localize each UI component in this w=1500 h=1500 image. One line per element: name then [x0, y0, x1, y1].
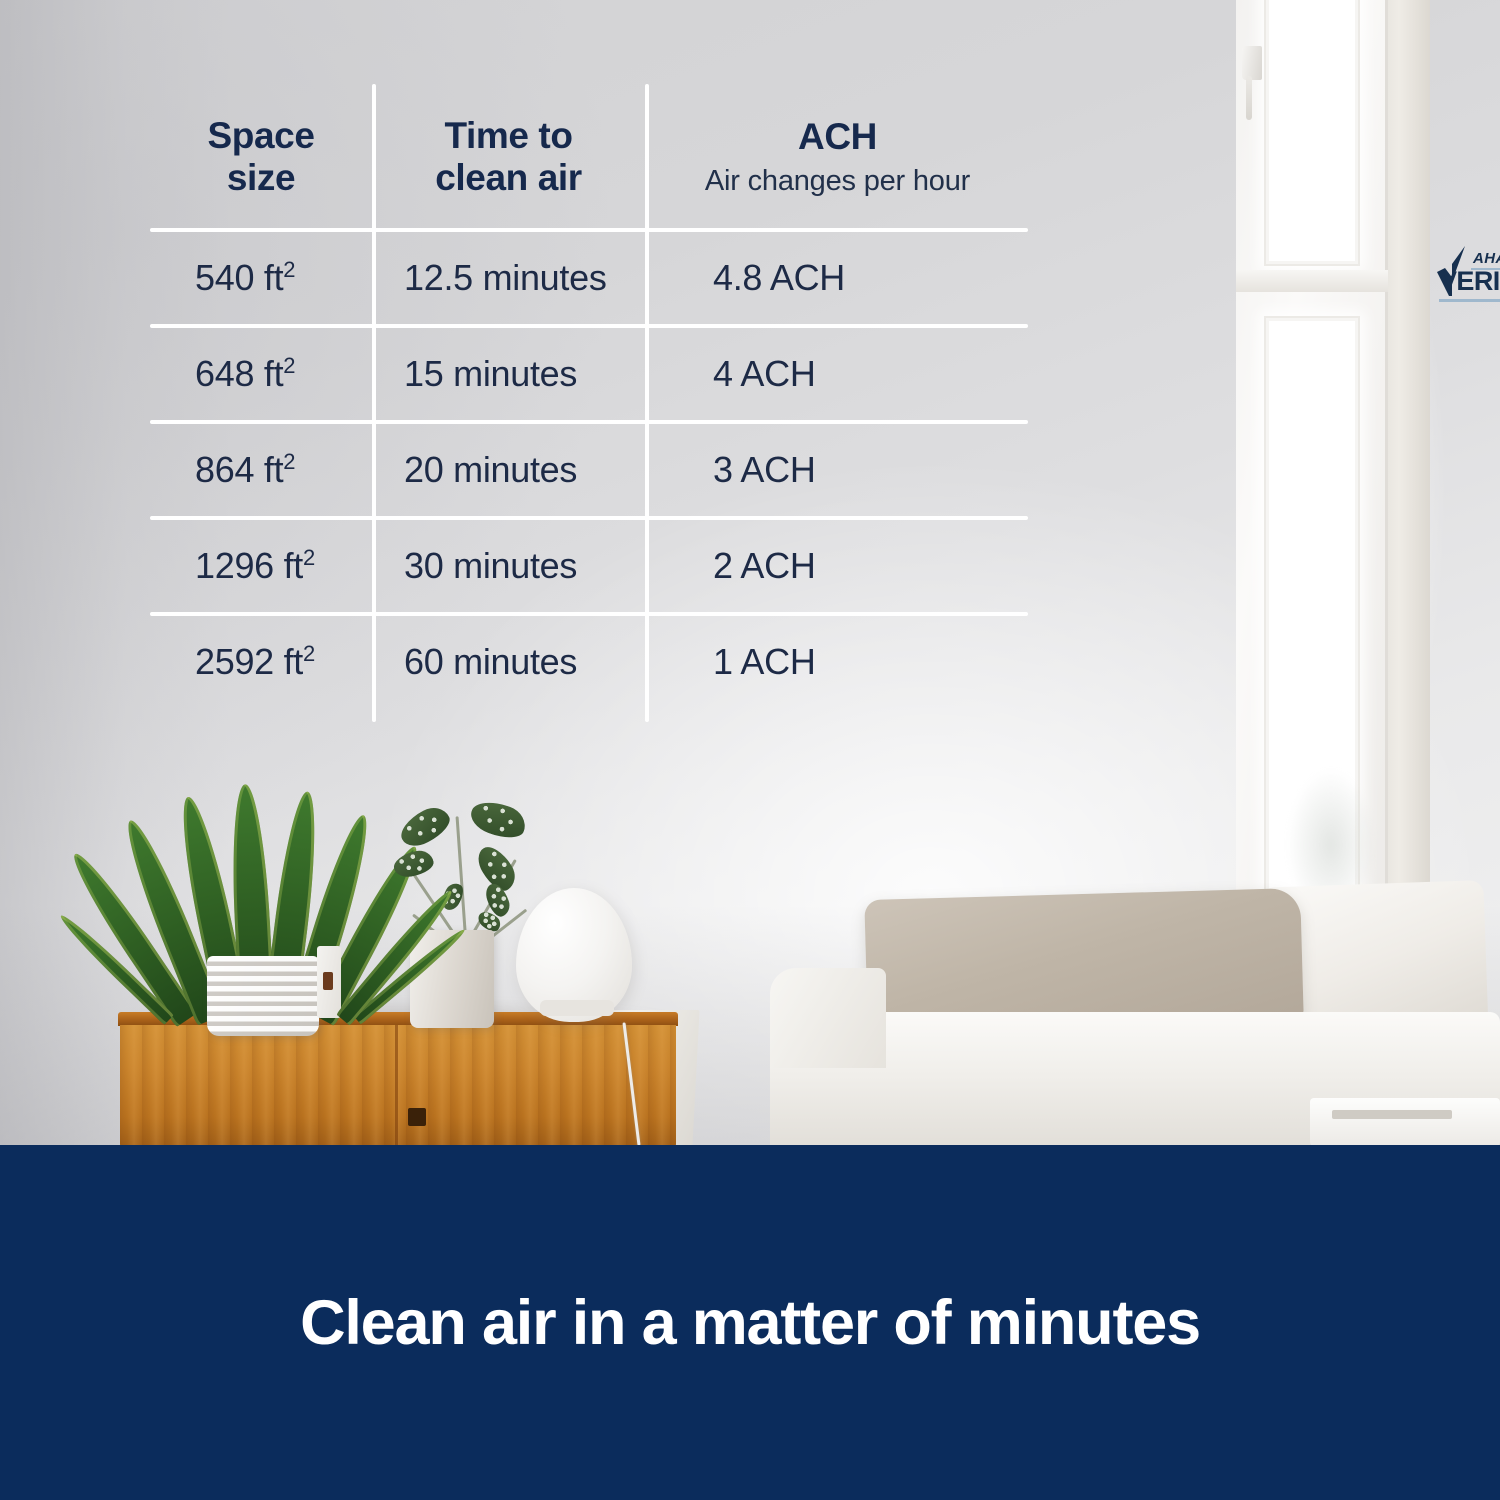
superscript: 2	[303, 641, 315, 666]
column-header-title: Time toclean air	[435, 115, 582, 199]
column-header-title: Spacesize	[207, 115, 314, 199]
cell-ach: 4.8 ACH	[713, 257, 845, 299]
cell-ach: 1 ACH	[713, 641, 816, 683]
small-bottle	[317, 946, 341, 1018]
table-row: 30 minutes	[372, 518, 645, 614]
banner-headline: Clean air in a matter of minutes	[300, 1287, 1200, 1359]
cell-space-size: 540 ft2	[195, 257, 295, 299]
cell-space-size: 1296 ft2	[195, 545, 315, 587]
column-header-title: ACH	[798, 116, 877, 158]
badge-top-text: AHAM	[1473, 250, 1500, 267]
cell-ach: 3 ACH	[713, 449, 816, 491]
plant-leaf	[392, 848, 436, 880]
sofa	[770, 880, 1500, 1145]
cell-ach: 2 ACH	[713, 545, 816, 587]
cell-space-size: 2592 ft2	[195, 641, 315, 683]
cell-time-to-clean: 20 minutes	[404, 449, 577, 491]
table-row: 2 ACH	[645, 518, 1030, 614]
window-handle-icon	[1242, 46, 1262, 80]
table-row: 648 ft2	[150, 326, 372, 422]
window-pane-upper	[1264, 0, 1360, 266]
table-row: 20 minutes	[372, 422, 645, 518]
aham-verifide-logo: AHAMVERIFIDE	[1437, 248, 1500, 310]
table-row: 2592 ft2	[150, 614, 372, 710]
cell-time-to-clean: 15 minutes	[404, 353, 577, 395]
sideboard-doors	[120, 1025, 676, 1145]
cell-time-to-clean: 60 minutes	[404, 641, 577, 683]
table-row: 4.8 ACHAHAMVERIFIDE	[645, 230, 1030, 326]
snake-plant-pot	[207, 956, 319, 1036]
table-row: 540 ft2	[150, 230, 372, 326]
superscript: 2	[283, 449, 295, 474]
badge-main-text: VERIFIDE	[1439, 268, 1500, 295]
table-row: 864 ft2	[150, 422, 372, 518]
cell-time-to-clean: 30 minutes	[404, 545, 577, 587]
wooden-sideboard	[118, 1012, 678, 1145]
superscript: 2	[283, 257, 295, 282]
coffee-table-edge	[1310, 1098, 1500, 1145]
table-header-cell-1: Spacesize	[150, 84, 372, 230]
sideboard-door-seam	[395, 1025, 398, 1145]
sideboard-knob	[408, 1108, 426, 1126]
plant-leaf	[467, 795, 531, 844]
window-mullion	[1236, 270, 1388, 292]
plant-leaf	[395, 801, 455, 852]
table-row: 1296 ft2	[150, 518, 372, 614]
lamp-base	[540, 1000, 614, 1016]
table-row: 60 minutes	[372, 614, 645, 710]
cell-ach: 4 ACH	[713, 353, 816, 395]
table-header-cell-2: Time toclean air	[372, 84, 645, 230]
cell-space-size: 864 ft2	[195, 449, 295, 491]
superscript: 2	[283, 353, 295, 378]
cell-time-to-clean: 12.5 minutes	[404, 257, 607, 299]
bottom-banner: Clean air in a matter of minutes	[0, 1145, 1500, 1500]
column-header-subtitle: Air changes per hour	[705, 165, 970, 198]
table-header-cell-3: ACHAir changes per hour	[645, 84, 1030, 230]
badge-underbar	[1439, 299, 1500, 302]
air-cleaning-performance-table: SpacesizeTime toclean airACHAir changes …	[150, 84, 1030, 726]
table-row: 4 ACH	[645, 326, 1030, 422]
table-row: 1 ACH	[645, 614, 1030, 710]
throw-cushion	[864, 888, 1303, 1030]
sofa-arm	[770, 968, 886, 1068]
table-row: 3 ACH	[645, 422, 1030, 518]
superscript: 2	[303, 545, 315, 570]
cell-space-size: 648 ft2	[195, 353, 295, 395]
table-row: 15 minutes	[372, 326, 645, 422]
table-row: 12.5 minutes	[372, 230, 645, 326]
